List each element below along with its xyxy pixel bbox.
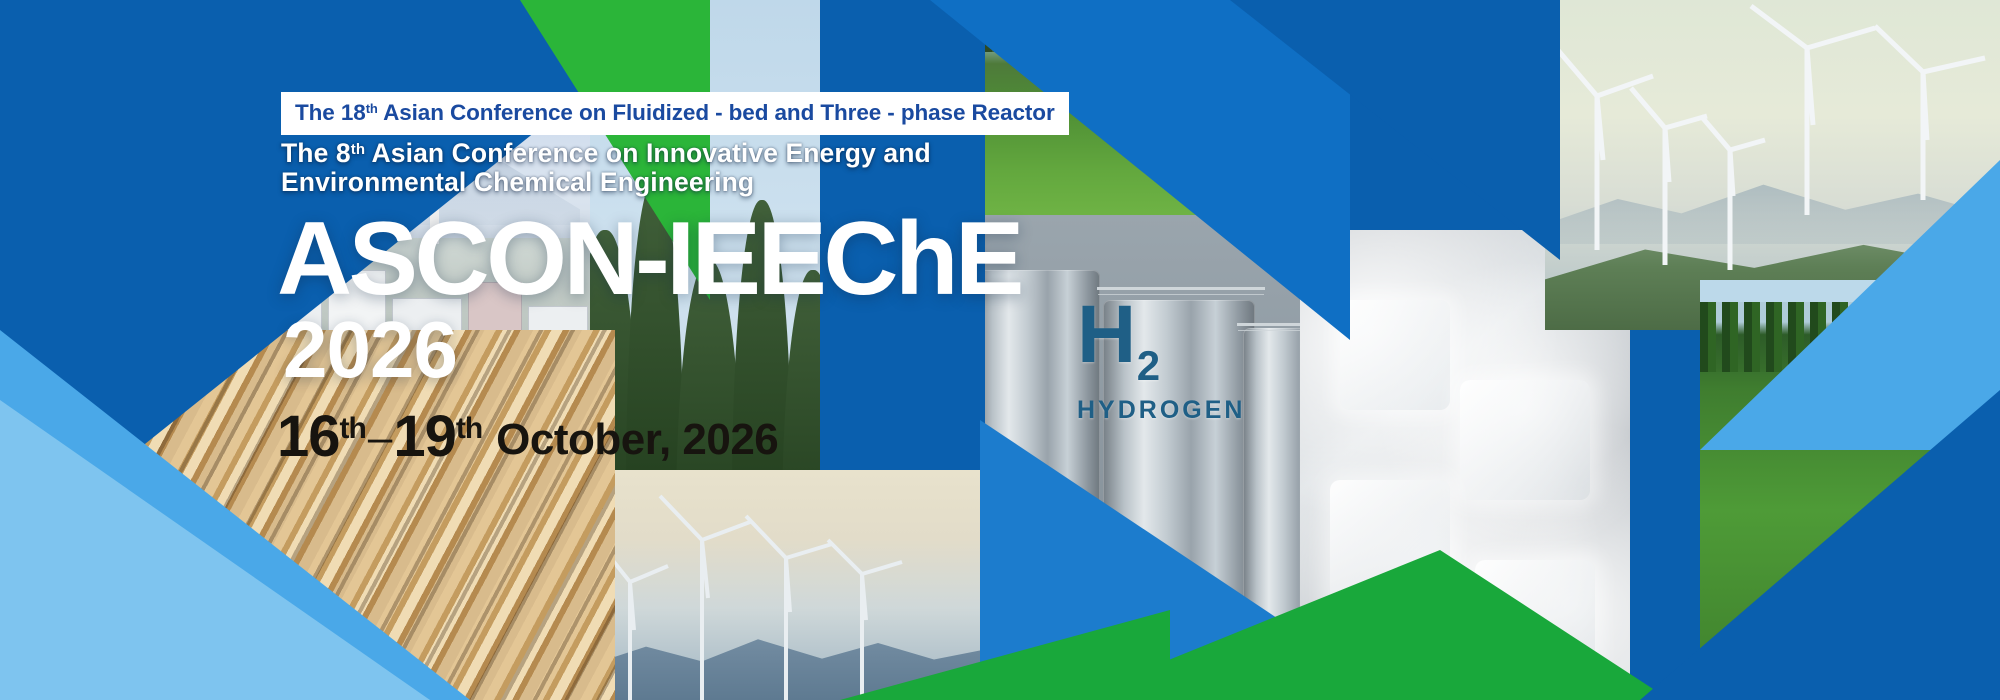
- banner-text-layer: The 18th Asian Conference on Fluidized -…: [0, 0, 2000, 700]
- badge-rest: Asian Conference on Fluidized - bed and …: [378, 100, 1055, 125]
- event-date: 16th–19thOctober, 2026: [277, 400, 778, 469]
- conference-banner: H2 HYDROGEN: [0, 0, 2000, 700]
- date-dash: –: [366, 413, 393, 462]
- main-title-acronym: ASCON-IEEChE: [277, 207, 1021, 311]
- date-end-day: 19: [393, 404, 456, 469]
- date-month-year: October, 2026: [482, 415, 778, 464]
- conference-8th-title-line1: The 8th Asian Conference on Innovative E…: [281, 134, 931, 169]
- subtitle-prefix: The 8: [281, 138, 351, 168]
- date-start-ordinal: th: [340, 412, 366, 445]
- subtitle-rest: Asian Conference on Innovative Energy an…: [365, 138, 931, 168]
- conference-18th-badge: The 18th Asian Conference on Fluidized -…: [281, 92, 1069, 135]
- date-end-ordinal: th: [456, 412, 482, 445]
- date-start-day: 16: [277, 404, 340, 469]
- badge-prefix: The 18: [295, 100, 366, 125]
- year-heading: 2026: [283, 310, 457, 390]
- badge-ordinal: th: [366, 101, 378, 116]
- conference-8th-title-line2: Environmental Chemical Engineering: [281, 166, 754, 198]
- subtitle-ordinal: th: [351, 141, 365, 158]
